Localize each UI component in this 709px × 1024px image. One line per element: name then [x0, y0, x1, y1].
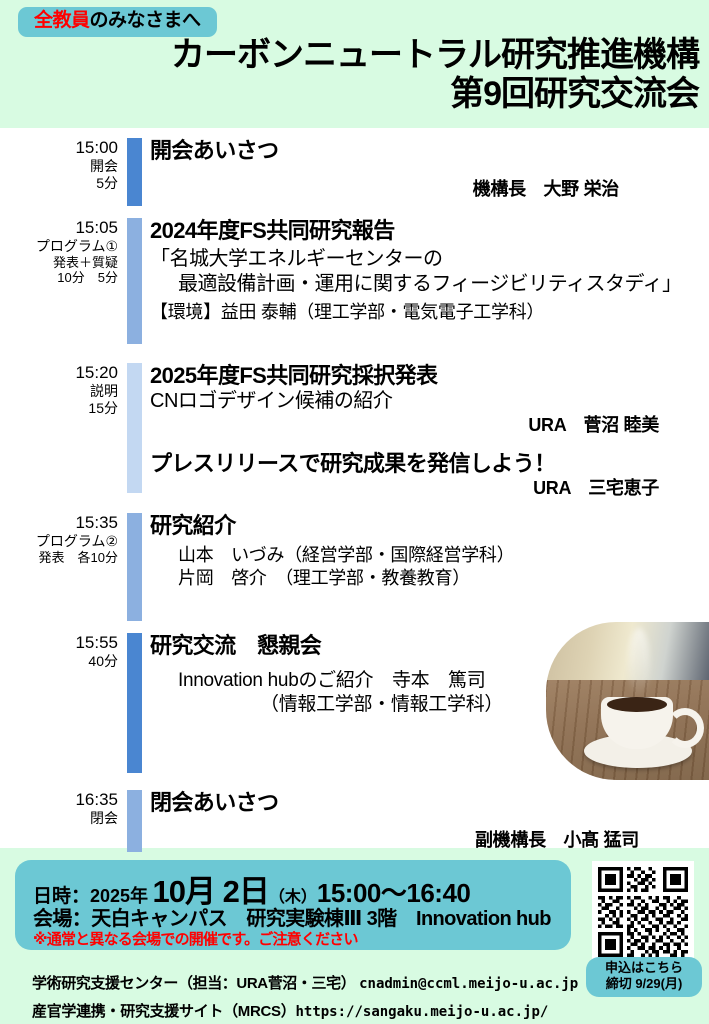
- venue-change-notice: ※通常と異なる会場での開催です。ご注意ください: [33, 928, 358, 949]
- program-subtitle-line-1: 「名城大学エネルギーセンターの: [150, 247, 709, 272]
- program-content: 2024年度FS共同研究報告 「名城大学エネルギーセンターの 最適設備計画・運用…: [150, 218, 709, 324]
- program-title: 閉会あいさつ: [150, 790, 709, 816]
- program-time-sub: プログラム①: [0, 238, 118, 255]
- program-content: 開会あいさつ 機構長 大野 栄治: [150, 138, 709, 201]
- program-content: 閉会あいさつ 副機構長 小髙 猛司: [150, 790, 709, 852]
- program-title: 2024年度FS共同研究報告: [150, 218, 709, 244]
- program-content: 研究紹介 山本 いづみ（経営学部・国際経営学科） 片岡 啓介 （理工学部・教養教…: [150, 513, 709, 589]
- footer-site-label: 産官学連携・研究支援サイト（MRCS）: [32, 1003, 295, 1020]
- program-time-column: 15:55 40分: [0, 633, 118, 670]
- qr-code[interactable]: [592, 861, 694, 963]
- program-content: 2025年度FS共同研究採択発表 CNロゴデザイン候補の紹介 URA 菅沼 睦美…: [150, 363, 709, 500]
- program-time-column: 15:20 説明 15分: [0, 363, 118, 416]
- event-poster: 全教員のみなさまへ カーボンニュートラル研究推進機構 第9回研究交流会 15:0…: [0, 0, 709, 1024]
- program-time-duration: 10分 5分: [0, 270, 118, 285]
- program-accent-bar: [127, 790, 142, 852]
- program-accent-bar: [127, 363, 142, 493]
- program-time-sub2: 発表＋質疑: [0, 255, 118, 270]
- photo-steam: [628, 628, 650, 698]
- audience-badge-highlight: 全教員: [34, 10, 90, 31]
- program-time-column: 16:35 閉会: [0, 790, 118, 827]
- program-time-sub: プログラム②: [0, 533, 118, 550]
- program-time: 15:20: [0, 363, 118, 383]
- program-time-sub: 説明: [0, 383, 118, 400]
- footer-site-line: 産官学連携・研究支援サイト（MRCS）https://sangaku.meijo…: [32, 1000, 578, 1021]
- contact-email[interactable]: cnadmin@ccml.meijo-u.ac.jp: [359, 976, 578, 992]
- footer-department: 学術研究支援センター（担当：URA菅沼・三宅）: [32, 975, 355, 992]
- program-title: 研究紹介: [150, 513, 709, 539]
- program-time-sub: 開会: [0, 158, 118, 175]
- qr-caption-line-1: 申込はこちら: [586, 960, 702, 976]
- program-accent-bar: [127, 138, 142, 206]
- program-time-duration: 5分: [0, 175, 118, 192]
- program-time-duration: 発表 各10分: [0, 550, 118, 565]
- program-title: 開会あいさつ: [150, 138, 709, 164]
- program-speaker-2: URA 三宅恵子: [150, 477, 709, 500]
- event-info-box: 日時：2025年 10月 2日（木）15:00〜16:40 会場：天白キャンパス…: [15, 860, 571, 950]
- program-time: 16:35: [0, 790, 118, 810]
- coffee-cup-photo: [546, 622, 709, 780]
- program-time: 15:00: [0, 138, 118, 158]
- program-title: 2025年度FS共同研究採択発表: [150, 363, 709, 389]
- program-speaker-1: 山本 いづみ（経営学部・国際経営学科）: [150, 544, 709, 567]
- program-subtitle: CNロゴデザイン候補の紹介: [150, 389, 709, 414]
- program-speaker: 機構長 大野 栄治: [150, 178, 709, 201]
- footer-contact-line: 学術研究支援センター（担当：URA菅沼・三宅） cnadmin@ccml.mei…: [32, 972, 578, 993]
- program-accent-bar: [127, 633, 142, 773]
- title-line-1: カーボンニュートラル研究推進機構: [171, 38, 699, 74]
- photo-coffee-surface: [607, 697, 667, 712]
- program-title-2: プレスリリースで研究成果を発信しよう！: [150, 451, 709, 477]
- program-time-duration: 40分: [0, 653, 118, 670]
- qr-code-caption: 申込はこちら 締切 9/29(月): [586, 957, 702, 997]
- program-time-duration: 15分: [0, 400, 118, 417]
- program-speaker-2: 片岡 啓介 （理工学部・教養教育）: [150, 567, 709, 590]
- program-speaker-1: URA 菅沼 睦美: [150, 414, 709, 437]
- audience-badge: 全教員のみなさまへ: [18, 7, 217, 37]
- program-time-column: 15:00 開会 5分: [0, 138, 118, 191]
- program-speaker: 【環境】益田 泰輔（理工学部・電気電子工学科）: [150, 301, 709, 324]
- program-time-column: 15:35 プログラム② 発表 各10分: [0, 513, 118, 565]
- qr-code-image[interactable]: [598, 867, 688, 957]
- audience-badge-rest: のみなさまへ: [90, 10, 201, 31]
- program-time: 15:05: [0, 218, 118, 238]
- qr-caption-line-2: 締切 9/29(月): [586, 976, 702, 992]
- title-line-2: 第9回研究交流会: [171, 77, 699, 113]
- poster-header: 全教員のみなさまへ カーボンニュートラル研究推進機構 第9回研究交流会: [0, 0, 709, 128]
- mrcs-site-url[interactable]: https://sangaku.meijo-u.ac.jp/: [295, 1004, 548, 1020]
- program-speaker: 副機構長 小髙 猛司: [150, 829, 709, 852]
- program-accent-bar: [127, 218, 142, 344]
- event-venue: 会場：天白キャンパス 研究実験棟Ⅲ 3階 Innovation hub: [33, 902, 551, 931]
- program-accent-bar: [127, 513, 142, 621]
- program-time-sub: 閉会: [0, 810, 118, 827]
- contact-footer: 学術研究支援センター（担当：URA菅沼・三宅） cnadmin@ccml.mei…: [32, 972, 578, 1021]
- page-title: カーボンニュートラル研究推進機構 第9回研究交流会: [171, 38, 699, 112]
- program-time: 15:55: [0, 633, 118, 653]
- program-subtitle-line-2: 最適設備計画・運用に関するフィージビリティスタディ」: [150, 272, 709, 297]
- program-time: 15:35: [0, 513, 118, 533]
- program-time-column: 15:05 プログラム① 発表＋質疑 10分 5分: [0, 218, 118, 285]
